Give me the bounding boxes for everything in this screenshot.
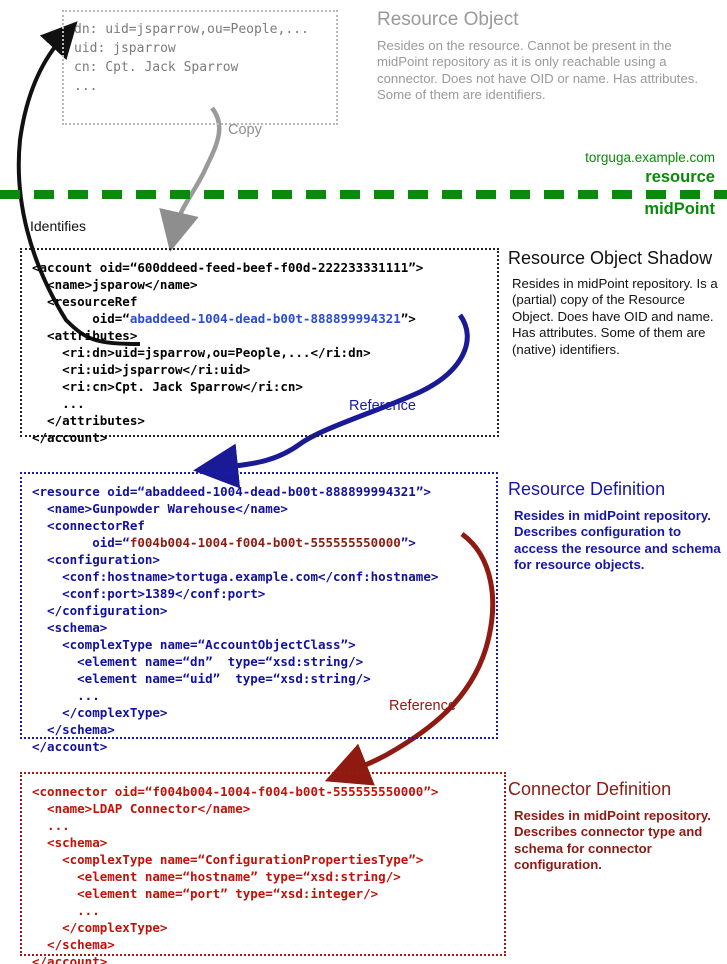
resource-code-line-2: <name>Gunpowder Warehouse</name>	[32, 500, 496, 517]
shadow-code-line-2: <name>jsparow</name>	[32, 276, 497, 293]
annotation-resource-object-body: Resides on the resource. Cannot be prese…	[377, 38, 717, 104]
annotation-shadow-body: Resides in midPoint repository. Is a (pa…	[512, 276, 722, 358]
resource-code-line-11: <element name=“dn” type=“xsd:string/>	[32, 653, 496, 670]
shadow-code-line-4: oid=“abaddeed-1004-dead-b00t-88889999432…	[32, 310, 497, 327]
shadow-code-line-11: </account>	[32, 429, 497, 446]
annotation-connector-definition: Connector Definition Resides in midPoint…	[508, 778, 722, 874]
connector-code-line-7: <element name=“port” type=“xsd:integer/>	[32, 885, 504, 902]
shadow-code-line-3: <resourceRef	[32, 293, 497, 310]
resource-code-line-10: <complexType name=“AccountObjectClass”>	[32, 636, 496, 653]
connectorref-oid-prefix: oid=“	[32, 535, 130, 550]
connector-code-line-6: <element name=“hostname” type=“xsd:strin…	[32, 868, 504, 885]
annotation-connector-definition-body: Resides in midPoint repository. Describe…	[514, 808, 722, 874]
connector-code-line-9: </complexType>	[32, 919, 504, 936]
annotation-resource-definition-body: Resides in midPoint repository. Describe…	[514, 508, 722, 574]
annotation-resource-definition: Resource Definition Resides in midPoint …	[508, 478, 722, 574]
resource-code-line-12: <element name=“uid” type=“xsd:string/>	[32, 670, 496, 687]
shadow-code-line-9: ...	[32, 395, 497, 412]
connectorref-oid-suffix: ”>	[401, 535, 416, 550]
connector-code-line-5: <complexType name=“ConfigurationProperti…	[32, 851, 504, 868]
connector-code-line-11: </account>	[32, 953, 504, 964]
resource-midpoint-boundary	[0, 190, 727, 199]
resource-object-box: dn: uid=jsparrow,ou=People,... uid: jspa…	[62, 10, 338, 125]
annotation-shadow: Resource Object Shadow Resides in midPoi…	[508, 248, 722, 358]
shadow-code-line-6: <ri:dn>uid=jsparrow,ou=People,...</ri:dn…	[32, 344, 497, 361]
reference-arrow-label-resource: Reference	[389, 698, 456, 714]
resource-oid-suffix: ”>	[416, 484, 431, 499]
connector-code-line-1: <connector oid=“f004b004-1004-f004-b00t-…	[32, 783, 504, 800]
arrow-copy	[175, 108, 219, 230]
annotation-resource-object: Resource Object Resides on the resource.…	[377, 8, 717, 104]
connector-code-line-8: ...	[32, 902, 504, 919]
shadow-oid-suffix: ”>	[401, 311, 416, 326]
resource-code-line-4: oid=“f004b004-1004-f004-b00t-55555555000…	[32, 534, 496, 551]
reference-arrow-label-shadow: Reference	[349, 398, 416, 414]
resource-code-line-1: <resource oid=“abaddeed-1004-dead-b00t-8…	[32, 483, 496, 500]
identifies-arrow-label: Identifies	[30, 218, 86, 234]
annotation-resource-definition-title: Resource Definition	[508, 478, 722, 501]
boundary-hostname-label: torguga.example.com	[427, 150, 715, 165]
boundary-resource-label: resource	[427, 168, 715, 187]
shadow-box: <account oid=“600ddeed-feed-beef-f00d-22…	[20, 248, 499, 437]
shadow-oid-prefix: oid=“	[32, 311, 130, 326]
diagram-canvas: dn: uid=jsparrow,ou=People,... uid: jspa…	[0, 0, 727, 964]
boundary-midpoint-label: midPoint	[427, 200, 715, 219]
connectorref-oid: f004b004-1004-f004-b00t-555555550000	[130, 535, 401, 550]
resource-code-line-15: </schema>	[32, 721, 496, 738]
resource-code-line-8: </configuration>	[32, 602, 496, 619]
resource-code-line-5: <configuration>	[32, 551, 496, 568]
copy-arrow-label: Copy	[228, 122, 262, 138]
resource-code-line-7: <conf:port>1389</conf:port>	[32, 585, 496, 602]
annotation-resource-object-title: Resource Object	[377, 8, 717, 31]
resource-oid: abaddeed-1004-dead-b00t-888899994321	[145, 484, 416, 499]
shadow-code-line-7: <ri:uid>jsparrow</ri:uid>	[32, 361, 497, 378]
resource-code-line-6: <conf:hostname>tortuga.example.com</conf…	[32, 568, 496, 585]
annotation-connector-definition-title: Connector Definition	[508, 778, 722, 801]
shadow-resourceref-oid: abaddeed-1004-dead-b00t-888899994321	[130, 311, 401, 326]
connector-code-line-2: <name>LDAP Connector</name>	[32, 800, 504, 817]
shadow-code-line-5: <attributes>	[32, 327, 497, 344]
resource-object-code: dn: uid=jsparrow,ou=People,... uid: jspa…	[74, 20, 336, 96]
connector-code-line-4: <schema>	[32, 834, 504, 851]
annotation-shadow-title: Resource Object Shadow	[508, 248, 722, 269]
connector-code-line-10: </schema>	[32, 936, 504, 953]
connector-code-line-3: ...	[32, 817, 504, 834]
shadow-code-line-1: <account oid=“600ddeed-feed-beef-f00d-22…	[32, 259, 497, 276]
shadow-code-line-10: </attributes>	[32, 412, 497, 429]
resource-oid-prefix: <resource oid=“	[32, 484, 145, 499]
resource-code-line-9: <schema>	[32, 619, 496, 636]
resource-code-line-3: <connectorRef	[32, 517, 496, 534]
connector-definition-box: <connector oid=“f004b004-1004-f004-b00t-…	[20, 772, 506, 956]
shadow-code-line-8: <ri:cn>Cpt. Jack Sparrow</ri:cn>	[32, 378, 497, 395]
resource-code-line-16: </account>	[32, 738, 496, 755]
